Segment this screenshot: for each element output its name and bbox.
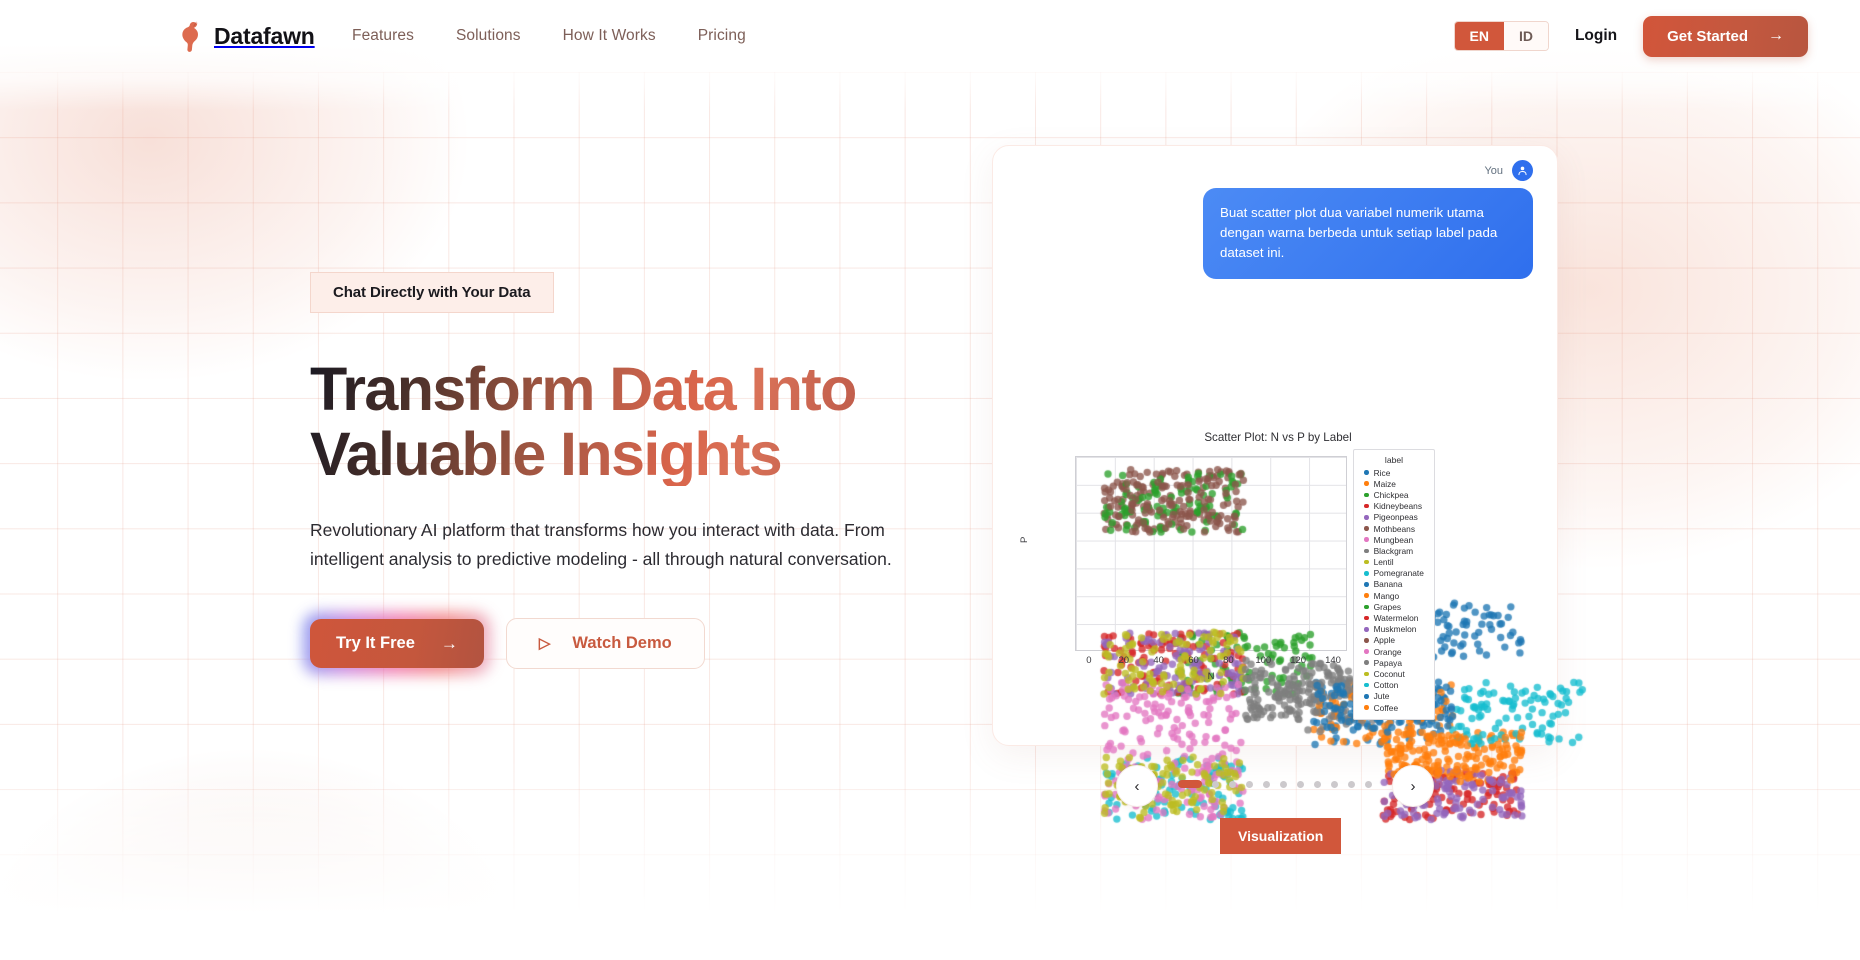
chart-legend-item: Mungbean (1360, 534, 1428, 545)
chart-legend-item: Apple (1360, 635, 1428, 646)
chart-legend-item: Blackgram (1360, 545, 1428, 556)
carousel-dot[interactable] (1297, 781, 1304, 788)
legend-color-swatch (1364, 694, 1369, 699)
carousel-dots (992, 780, 1558, 788)
nav-item-pricing[interactable]: Pricing (698, 27, 746, 45)
legend-color-swatch (1364, 470, 1369, 475)
chart-legend-item: Grapes (1360, 601, 1428, 612)
legend-label: Mango (1374, 591, 1400, 601)
legend-label: Rice (1374, 468, 1391, 478)
legend-color-swatch (1364, 549, 1369, 554)
try-it-free-label: Try It Free (336, 634, 415, 653)
carousel-dot-active[interactable] (1178, 780, 1202, 788)
chat-message-row: You Buat scatter plot dua variabel numer… (1203, 160, 1533, 279)
chart-legend-item: Mango (1360, 590, 1428, 601)
legend-label: Cotton (1374, 680, 1399, 690)
get-started-button[interactable]: Get Started → (1643, 16, 1808, 57)
user-icon (1517, 165, 1528, 176)
hero-cta-group: Try It Free → ▷ Watch Demo (310, 618, 950, 669)
avatar (1512, 160, 1533, 181)
carousel-dot[interactable] (1246, 781, 1253, 788)
legend-label: Banana (1374, 579, 1403, 589)
carousel-dot[interactable] (1365, 781, 1372, 788)
visualization-badge[interactable]: Visualization (1220, 818, 1341, 854)
legend-label: Maize (1374, 479, 1396, 489)
legend-color-swatch (1364, 515, 1369, 520)
carousel-dot[interactable] (1280, 781, 1287, 788)
carousel-next-button[interactable]: › (1392, 765, 1434, 807)
arrow-right-icon: → (441, 635, 458, 652)
chart-plot-area (1075, 456, 1347, 651)
legend-label: Orange (1374, 647, 1402, 657)
legend-label: Coffee (1374, 703, 1399, 713)
main-nav: Features Solutions How It Works Pricing (352, 27, 746, 45)
legend-label: Watermelon (1374, 613, 1419, 623)
chart-title: Scatter Plot: N vs P by Label (1013, 431, 1543, 444)
legend-label: Coconut (1374, 669, 1405, 679)
legend-label: Blackgram (1374, 546, 1414, 556)
chart-legend-item: Coffee (1360, 702, 1428, 713)
legend-color-swatch (1364, 683, 1369, 688)
chart-legend-item: Muskmelon (1360, 624, 1428, 635)
logo-link[interactable]: Datafawn (178, 20, 315, 52)
chart-legend-item: Pomegranate (1360, 568, 1428, 579)
legend-color-swatch (1364, 672, 1369, 677)
legend-color-swatch (1364, 571, 1369, 576)
site-header: Datafawn Features Solutions How It Works… (0, 0, 1860, 72)
chat-message-meta: You (1203, 160, 1533, 181)
arrow-right-icon: → (1768, 28, 1784, 44)
scatter-chart: Scatter Plot: N vs P by Label P 02040608… (1013, 431, 1543, 721)
legend-color-swatch (1364, 660, 1369, 665)
legend-color-swatch (1364, 616, 1369, 621)
chart-x-tick: 80 (1223, 655, 1234, 666)
chart-legend-title: label (1360, 455, 1428, 465)
legend-label: Pomegranate (1374, 568, 1424, 578)
chart-y-axis-label: P (1019, 537, 1030, 543)
language-option-id[interactable]: ID (1504, 22, 1548, 50)
carousel-controls: ‹ › (992, 765, 1558, 817)
chart-legend-item: Cotton (1360, 680, 1428, 691)
chart-legend-item: Kidneybeans (1360, 501, 1428, 512)
legend-label: Chickpea (1374, 490, 1409, 500)
legend-label: Papaya (1374, 658, 1402, 668)
header-actions: EN ID Login Get Started → (1454, 16, 1809, 57)
carousel-dot[interactable] (1229, 781, 1236, 788)
legend-color-swatch (1364, 638, 1369, 643)
legend-color-swatch (1364, 560, 1369, 565)
legend-color-swatch (1364, 705, 1369, 710)
chart-x-tick: 120 (1290, 655, 1306, 666)
legend-color-swatch (1364, 481, 1369, 486)
language-option-en[interactable]: EN (1455, 22, 1504, 50)
chart-x-axis-label: N (1075, 671, 1347, 682)
language-toggle[interactable]: EN ID (1454, 21, 1549, 51)
legend-label: Muskmelon (1374, 624, 1417, 634)
chart-x-tick: 0 (1086, 655, 1091, 666)
legend-color-swatch (1364, 493, 1369, 498)
chat-preview-card: You Buat scatter plot dua variabel numer… (992, 145, 1558, 746)
legend-color-swatch (1364, 537, 1369, 542)
chart-x-tick: 100 (1255, 655, 1271, 666)
chart-x-tick: 20 (1119, 655, 1130, 666)
chart-legend-item: Chickpea (1360, 489, 1428, 500)
hero-title-line2: Valuable Insights (310, 420, 781, 488)
nav-item-features[interactable]: Features (352, 27, 414, 45)
chart-legend-item: Papaya (1360, 657, 1428, 668)
hero-title-line1: Transform Data Into (310, 355, 856, 423)
chart-x-tick: 140 (1325, 655, 1341, 666)
legend-label: Lentil (1374, 557, 1394, 567)
get-started-label: Get Started (1667, 28, 1748, 45)
fawn-logo-icon (178, 20, 204, 52)
carousel-dot[interactable] (1348, 781, 1355, 788)
legend-label: Jute (1374, 691, 1390, 701)
logo-text: Datafawn (214, 23, 315, 50)
legend-color-swatch (1364, 627, 1369, 632)
page-title: Transform Data IntoValuable Insights (310, 357, 910, 486)
try-it-free-button[interactable]: Try It Free → (310, 619, 484, 668)
nav-item-solutions[interactable]: Solutions (456, 27, 521, 45)
chart-x-tick: 40 (1153, 655, 1164, 666)
chart-x-ticks: 020406080100120140 (1075, 655, 1347, 669)
watch-demo-label: Watch Demo (572, 634, 671, 653)
chart-legend: label RiceMaizeChickpeaKidneybeansPigeon… (1353, 449, 1435, 720)
legend-color-swatch (1364, 582, 1369, 587)
carousel-dot[interactable] (1331, 781, 1338, 788)
chart-legend-items: RiceMaizeChickpeaKidneybeansPigeonpeasMo… (1360, 467, 1428, 713)
carousel-dot[interactable] (1263, 781, 1270, 788)
chart-legend-item: Watermelon (1360, 612, 1428, 623)
hero-subtitle: Revolutionary AI platform that transform… (310, 516, 900, 574)
chart-legend-item: Jute (1360, 691, 1428, 702)
hero-content: Chat Directly with Your Data Transform D… (310, 272, 950, 669)
nav-item-how-it-works[interactable]: How It Works (563, 27, 656, 45)
play-icon: ▷ (539, 636, 551, 651)
legend-color-swatch (1364, 526, 1369, 531)
legend-label: Mungbean (1374, 535, 1414, 545)
chart-legend-item: Mothbeans (1360, 523, 1428, 534)
legend-color-swatch (1364, 504, 1369, 509)
legend-label: Apple (1374, 635, 1395, 645)
chart-legend-item: Maize (1360, 478, 1428, 489)
legend-label: Mothbeans (1374, 524, 1415, 534)
login-link[interactable]: Login (1575, 27, 1617, 45)
chart-legend-item: Orange (1360, 646, 1428, 657)
chart-legend-item: Pigeonpeas (1360, 512, 1428, 523)
legend-color-swatch (1364, 605, 1369, 610)
chart-legend-item: Banana (1360, 579, 1428, 590)
try-it-free-wrapper: Try It Free → (310, 619, 484, 668)
watch-demo-button[interactable]: ▷ Watch Demo (506, 618, 705, 669)
chat-user-message: Buat scatter plot dua variabel numerik u… (1203, 188, 1533, 279)
legend-label: Grapes (1374, 602, 1401, 612)
carousel-dot[interactable] (1314, 781, 1321, 788)
chart-legend-item: Lentil (1360, 557, 1428, 568)
carousel-dot[interactable] (1212, 781, 1219, 788)
legend-label: Pigeonpeas (1374, 512, 1418, 522)
legend-color-swatch (1364, 649, 1369, 654)
legend-color-swatch (1364, 593, 1369, 598)
chart-x-tick: 60 (1188, 655, 1199, 666)
legend-label: Kidneybeans (1374, 501, 1422, 511)
chart-legend-item: Coconut (1360, 668, 1428, 679)
chart-legend-item: Rice (1360, 467, 1428, 478)
hero-badge: Chat Directly with Your Data (310, 272, 554, 313)
chat-author-label: You (1484, 165, 1503, 177)
